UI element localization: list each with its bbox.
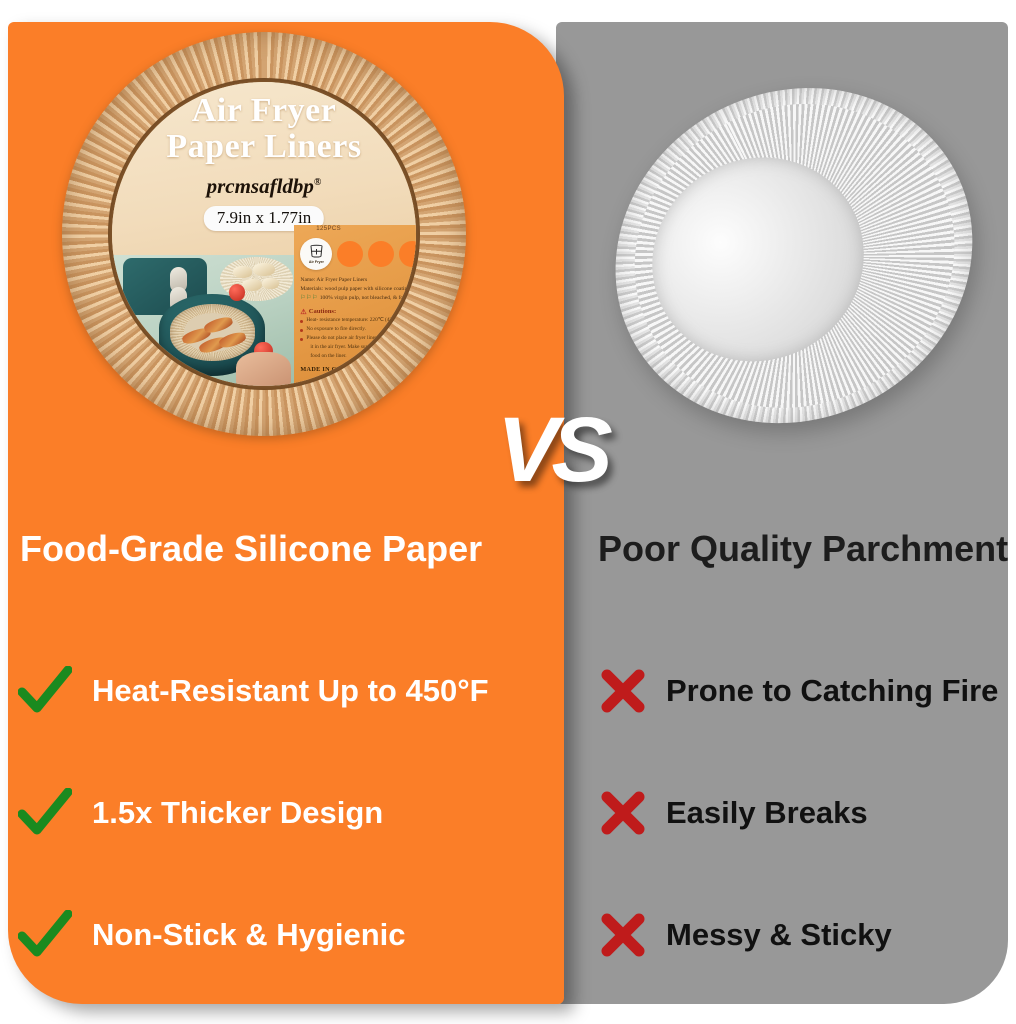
feature-label: Easily Breaks bbox=[666, 795, 868, 831]
feature-row: Non-Stick & Hygienic bbox=[18, 874, 558, 996]
eco-line: ⚐⚐⚐ 100% virgin pulp, not bleached, & fo… bbox=[300, 294, 411, 304]
popcorn-piece bbox=[262, 278, 280, 289]
air-fryer-icon: Air Fryer bbox=[300, 238, 332, 270]
feature-label: Heat-Resistant Up to 450°F bbox=[92, 673, 489, 709]
check-icon bbox=[18, 910, 72, 960]
feature-row: 1.5x Thicker Design bbox=[18, 752, 558, 874]
cautions-heading-text: Cautions: bbox=[309, 308, 336, 315]
badge-row: Air Fryer bbox=[300, 237, 411, 271]
feature-row: Heat-Resistant Up to 450°F bbox=[18, 630, 558, 752]
air-fryer-liner-product-image: Air Fryer Paper Liners prcmsafldbp® 7.9i… bbox=[62, 32, 466, 436]
label-info-strip: 125PCS Air Fryer Name: bbox=[294, 225, 416, 386]
color-dot bbox=[399, 241, 416, 267]
popcorn-piece bbox=[233, 266, 252, 278]
trademark-symbol: ® bbox=[314, 177, 321, 188]
paper-liner-in-basket bbox=[170, 304, 255, 361]
hand bbox=[236, 352, 291, 386]
comparison-infographic: Air Fryer Paper Liners prcmsafldbp® 7.9i… bbox=[0, 0, 1016, 1024]
right-panel-heading: Poor Quality Parchment bbox=[598, 528, 1008, 570]
caution-item: Heat- resistance temperature: 220℃ (428℉… bbox=[300, 316, 411, 325]
package-label: Air Fryer Paper Liners prcmsafldbp® 7.9i… bbox=[112, 82, 416, 386]
label-title-line2: Paper Liners bbox=[112, 129, 416, 165]
feature-label: Messy & Sticky bbox=[666, 917, 892, 953]
air-fryer-icon-caption: Air Fryer bbox=[309, 260, 324, 264]
recycle-icon: ⚐⚐⚐ bbox=[300, 294, 317, 304]
label-title-line1: Air Fryer bbox=[112, 93, 416, 129]
feature-label: Prone to Catching Fire bbox=[666, 673, 998, 709]
cross-icon bbox=[600, 912, 646, 958]
product-name-line: Name: Air Fryer Paper Liners bbox=[300, 276, 411, 285]
feature-row: Messy & Sticky bbox=[600, 874, 1000, 996]
color-dot bbox=[337, 241, 363, 267]
popcorn-piece bbox=[253, 263, 275, 276]
warning-triangle-icon: ⚠ bbox=[300, 308, 306, 316]
brand-text: prcmsafldbp bbox=[207, 174, 314, 198]
pieces-count: 125PCS bbox=[316, 226, 341, 232]
cautions-list: Heat- resistance temperature: 220℃ (428℉… bbox=[300, 316, 411, 361]
left-feature-list: Heat-Resistant Up to 450°F 1.5x Thicker … bbox=[18, 630, 558, 996]
left-panel-heading: Food-Grade Silicone Paper bbox=[20, 528, 482, 570]
eco-text: 100% virgin pulp, not bleached, & food g… bbox=[320, 294, 411, 303]
caution-item: No exposure to fire directly. bbox=[300, 325, 411, 334]
origin-text: MADE IN CHINA bbox=[300, 366, 411, 373]
check-icon bbox=[18, 666, 72, 716]
cross-icon bbox=[600, 790, 646, 836]
vs-badge: VS bbox=[497, 404, 606, 496]
feature-row: Easily Breaks bbox=[600, 752, 1000, 874]
check-icon bbox=[18, 788, 72, 838]
right-feature-list: Prone to Catching Fire Easily Breaks Mes… bbox=[600, 630, 1000, 996]
feature-label: Non-Stick & Hygienic bbox=[92, 917, 406, 953]
product-photo-inset bbox=[112, 255, 294, 386]
cautions-heading: ⚠ Cautions: bbox=[300, 308, 411, 316]
feature-label: 1.5x Thicker Design bbox=[92, 795, 383, 831]
cherry-tomato bbox=[229, 284, 245, 301]
brand-name: prcmsafldbp® bbox=[112, 174, 416, 199]
materials-line: Materials: wood pulp paper with silicone… bbox=[300, 285, 411, 294]
label-title: Air Fryer Paper Liners bbox=[112, 93, 416, 165]
label-specifications: Name: Air Fryer Paper Liners Materials: … bbox=[300, 276, 411, 373]
feature-row: Prone to Catching Fire bbox=[600, 630, 1000, 752]
color-dot bbox=[368, 241, 394, 267]
parchment-cup-image bbox=[596, 70, 992, 442]
cross-icon bbox=[600, 668, 646, 714]
caution-item: Please do not place air fryer liner with… bbox=[300, 334, 411, 361]
